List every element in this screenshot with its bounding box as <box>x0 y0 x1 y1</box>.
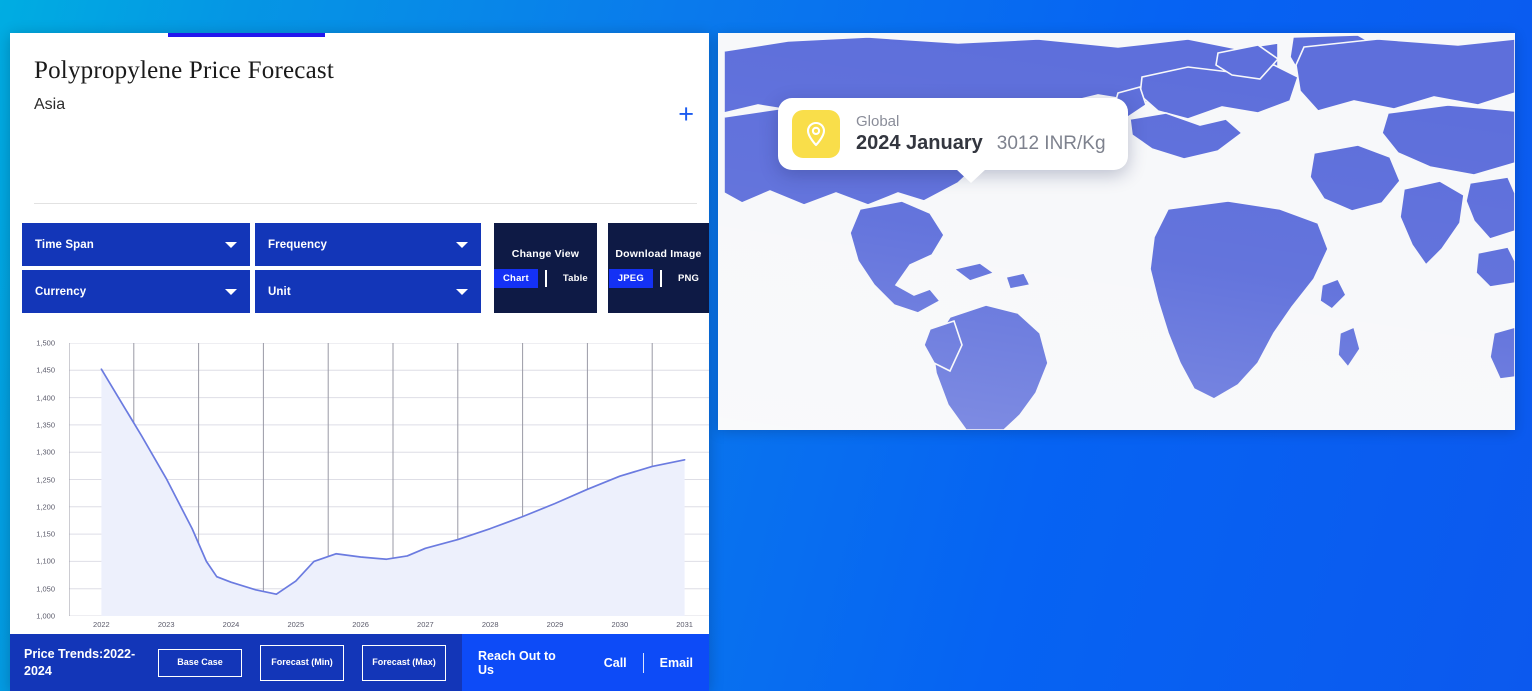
x-axis-tick-label: 2025 <box>287 620 304 629</box>
location-pin-glyph <box>803 120 829 148</box>
x-axis-tick-label: 2022 <box>93 620 110 629</box>
dropdown-unit[interactable]: Unit <box>255 270 481 313</box>
y-axis-tick-label: 1,350 <box>36 420 55 429</box>
y-axis-tick-label: 1,500 <box>36 339 55 348</box>
y-axis-tick-label: 1,400 <box>36 393 55 402</box>
dropdown-time-span[interactable]: Time Span <box>22 223 250 266</box>
price-chart: 1,0001,0501,1001,1501,2001,2501,3001,350… <box>22 318 709 648</box>
card-footer: Price Trends:2022-2024 Base Case Forecas… <box>10 634 709 691</box>
x-axis-tick-label: 2024 <box>223 620 240 629</box>
chart-svg <box>69 343 709 616</box>
view-option-table[interactable]: Table <box>554 269 597 288</box>
page-title: Polypropylene Price Forecast <box>34 57 685 85</box>
tooltip-price: 3012 INR/Kg <box>997 133 1106 155</box>
segment-divider <box>545 270 547 287</box>
email-link[interactable]: Email <box>644 656 709 670</box>
world-map-panel[interactable]: Global 2024 January 3012 INR/Kg <box>718 33 1515 430</box>
region-label: Asia <box>34 96 685 114</box>
change-view-panel: Change View Chart Table <box>494 223 597 313</box>
dropdown-frequency-label: Frequency <box>268 239 327 251</box>
reach-out-link[interactable]: Reach Out to Us <box>462 649 588 677</box>
forecast-min-label: Forecast (Min) <box>271 656 333 668</box>
y-axis-tick-label: 1,300 <box>36 448 55 457</box>
dropdown-time-span-label: Time Span <box>35 239 94 251</box>
chevron-down-icon <box>225 242 237 248</box>
y-axis-tick-label: 1,250 <box>36 475 55 484</box>
world-map-svg <box>718 33 1515 430</box>
call-link[interactable]: Call <box>588 656 643 670</box>
tooltip-content: Global 2024 January 3012 INR/Kg <box>856 113 1106 155</box>
map-tooltip: Global 2024 January 3012 INR/Kg <box>778 98 1128 170</box>
download-format-toggle: JPEG PNG <box>609 269 708 288</box>
y-axis-tick-label: 1,200 <box>36 502 55 511</box>
segment-divider <box>660 270 662 287</box>
y-axis-tick-label: 1,100 <box>36 557 55 566</box>
tooltip-region: Global <box>856 113 1106 130</box>
dropdown-frequency[interactable]: Frequency <box>255 223 481 266</box>
view-option-chart[interactable]: Chart <box>494 269 538 288</box>
x-axis-tick-label: 2030 <box>611 620 628 629</box>
forecast-min-button[interactable]: Forecast (Min) <box>260 645 344 681</box>
y-axis-tick-label: 1,450 <box>36 366 55 375</box>
card-header: Polypropylene Price Forecast Asia + <box>10 33 709 114</box>
price-forecast-card: Polypropylene Price Forecast Asia + Time… <box>10 33 709 691</box>
tooltip-date: 2024 January <box>856 132 983 155</box>
forecast-max-label: Forecast (Max) <box>372 656 436 668</box>
y-axis-tick-label: 1,000 <box>36 612 55 621</box>
chart-plot-area[interactable] <box>69 343 709 616</box>
dropdown-currency[interactable]: Currency <box>22 270 250 313</box>
contact-divider <box>643 653 644 673</box>
base-case-button[interactable]: Base Case <box>158 649 242 677</box>
expand-plus-icon[interactable]: + <box>678 101 694 128</box>
x-axis-tick-label: 2029 <box>547 620 564 629</box>
download-image-title: Download Image <box>615 248 701 260</box>
contact-bar: Reach Out to Us Call Email <box>462 634 709 691</box>
x-axis-tick-label: 2031 <box>676 620 693 629</box>
tooltip-tail <box>956 169 986 183</box>
filter-dropdowns: Time Span Frequency Currency Unit <box>22 223 481 313</box>
change-view-toggle: Chart Table <box>494 269 597 288</box>
y-axis-tick-label: 1,150 <box>36 530 55 539</box>
controls-bar: Time Span Frequency Currency Unit Change… <box>22 223 709 313</box>
download-option-png[interactable]: PNG <box>669 269 708 288</box>
dropdown-currency-label: Currency <box>35 286 86 298</box>
tooltip-values: 2024 January 3012 INR/Kg <box>856 132 1106 155</box>
change-view-title: Change View <box>512 248 579 260</box>
dropdown-unit-label: Unit <box>268 286 291 298</box>
download-image-panel: Download Image JPEG PNG <box>608 223 709 313</box>
download-option-jpeg[interactable]: JPEG <box>609 269 653 288</box>
x-axis-tick-label: 2023 <box>158 620 175 629</box>
chevron-down-icon <box>456 242 468 248</box>
x-axis-tick-label: 2028 <box>482 620 499 629</box>
y-axis-tick-label: 1,050 <box>36 584 55 593</box>
forecast-max-button[interactable]: Forecast (Max) <box>362 645 446 681</box>
price-trends-label: Price Trends:2022-2024 <box>10 646 150 680</box>
x-axis-tick-label: 2026 <box>352 620 369 629</box>
x-axis-tick-label: 2027 <box>417 620 434 629</box>
chevron-down-icon <box>456 289 468 295</box>
chevron-down-icon <box>225 289 237 295</box>
location-pin-icon <box>792 110 840 158</box>
header-divider <box>34 203 697 204</box>
